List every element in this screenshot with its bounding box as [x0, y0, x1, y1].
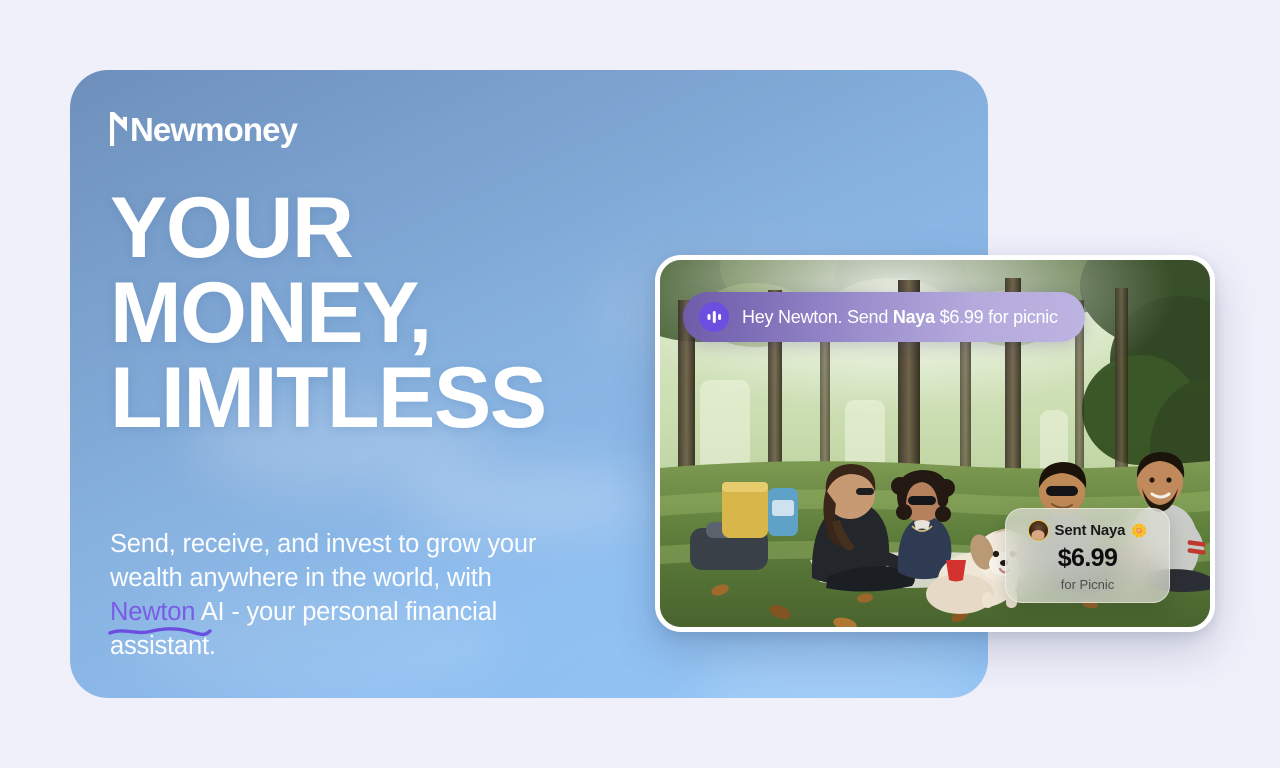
payment-header-row: Sent Naya 🌼	[1028, 520, 1148, 541]
subcopy-text-before: Send, receive, and invest to grow your w…	[110, 530, 536, 592]
payment-note: for Picnic	[1061, 577, 1114, 592]
voice-command-pill[interactable]: Hey Newton. Send Naya $6.99 for picnic	[683, 292, 1085, 342]
payment-confirmation-card[interactable]: Sent Naya 🌼 $6.99 for Picnic	[1005, 508, 1170, 603]
cloud-decoration	[400, 465, 660, 535]
newton-accent-label: Newton	[110, 598, 195, 626]
brand-logo-text: Newmoney	[130, 113, 297, 146]
payment-amount: $6.99	[1058, 544, 1118, 573]
voice-text-before: Hey Newton. Send	[742, 307, 893, 327]
voice-text-recipient: Naya	[893, 307, 935, 327]
blossom-emoji-icon: 🌼	[1131, 524, 1147, 537]
promo-banner: Newmoney YOUR MONEY, LIMITLESS Send, rec…	[0, 0, 1280, 768]
page-title: YOUR MONEY, LIMITLESS	[110, 186, 546, 441]
logo-mark-icon	[110, 112, 127, 146]
voice-command-text: Hey Newton. Send Naya $6.99 for picnic	[742, 307, 1058, 328]
headline-line-1: YOUR	[110, 186, 546, 271]
voice-waveform-icon	[699, 302, 729, 332]
squiggle-underline-icon	[108, 626, 212, 637]
waveform-bars-icon	[707, 310, 722, 324]
headline-line-2: MONEY,	[110, 271, 546, 356]
headline-line-3: LIMITLESS	[110, 356, 546, 441]
avatar	[1028, 520, 1049, 541]
cloud-decoration	[690, 630, 988, 698]
hero-subcopy: Send, receive, and invest to grow your w…	[110, 527, 540, 663]
newton-accent[interactable]: Newton	[110, 598, 195, 626]
brand-logo[interactable]: Newmoney	[110, 112, 297, 146]
payment-title: Sent Naya	[1055, 523, 1126, 538]
voice-text-after: $6.99 for picnic	[935, 307, 1058, 327]
